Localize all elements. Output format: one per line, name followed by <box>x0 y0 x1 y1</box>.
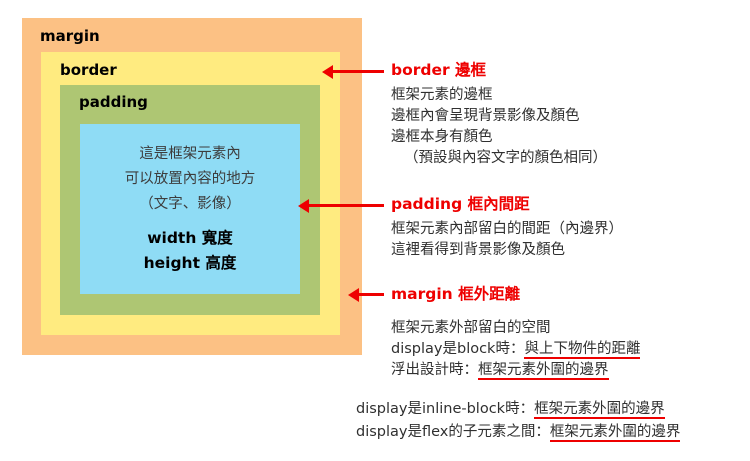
section-border-line-2: 邊框內會呈現背景影像及顏色 <box>391 106 607 127</box>
section-border-line-3: 邊框本身有顏色 <box>391 127 607 148</box>
content-line-1: 這是框架元素內 <box>80 142 300 167</box>
footer-line-1: display是inline-block時：框架元素外圍的邊界 <box>356 398 680 421</box>
margin-box-label: margin <box>40 29 100 44</box>
section-border-line-4: （預設與內容文字的顏色相同） <box>391 148 607 169</box>
section-margin-line-3-prefix: 浮出設計時： <box>391 362 478 378</box>
border-box: border padding 這是框架元素內 可以放置內容的地方 （文字、影像）… <box>41 52 340 335</box>
section-border: border 邊框 框架元素的邊框 邊框內會呈現背景影像及顏色 邊框本身有顏色 … <box>391 61 607 169</box>
padding-callout-arrow-icon <box>308 204 384 207</box>
section-padding-body: 框架元素內部留白的間距（內邊界） 這裡看得到背景影像及顏色 <box>391 219 623 261</box>
content-box: 這是框架元素內 可以放置內容的地方 （文字、影像） width 寬度 heigh… <box>80 124 300 294</box>
section-border-line-1: 框架元素的邊框 <box>391 85 607 106</box>
section-padding-title: padding 框內間距 <box>391 195 623 214</box>
section-margin-line-1: 框架元素外部留白的空間 <box>391 318 640 339</box>
footer-line-2-emphasis: 框架元素外圍的邊界 <box>550 424 681 442</box>
section-margin-title: margin 框外距離 <box>391 285 640 304</box>
section-border-title: border 邊框 <box>391 61 607 80</box>
padding-box-label: padding <box>79 95 148 110</box>
content-height-label: height 高度 <box>80 251 300 276</box>
section-margin: margin 框外距離 框架元素外部留白的空間 display是block時：與… <box>391 285 640 381</box>
footer-notes: display是inline-block時：框架元素外圍的邊界 display是… <box>356 398 680 444</box>
footer-line-2: display是flex的子元素之間：框架元素外圍的邊界 <box>356 421 680 444</box>
margin-box: margin border padding 這是框架元素內 可以放置內容的地方 … <box>22 18 362 355</box>
section-margin-line-2: display是block時：與上下物件的距離 <box>391 339 640 360</box>
padding-box: padding 這是框架元素內 可以放置內容的地方 （文字、影像） width … <box>60 85 320 315</box>
section-margin-body: 框架元素外部留白的空間 display是block時：與上下物件的距離 浮出設計… <box>391 318 640 381</box>
section-padding-line-2: 這裡看得到背景影像及顏色 <box>391 240 623 261</box>
section-margin-line-3: 浮出設計時：框架元素外圍的邊界 <box>391 360 640 381</box>
content-line-2: 可以放置內容的地方 <box>80 167 300 192</box>
footer-line-1-prefix: display是inline-block時： <box>356 401 534 417</box>
section-margin-line-2-emphasis: 與上下物件的距離 <box>524 341 640 359</box>
border-callout-arrow-icon <box>332 70 384 73</box>
section-padding-line-1: 框架元素內部留白的間距（內邊界） <box>391 219 623 240</box>
section-padding: padding 框內間距 框架元素內部留白的間距（內邊界） 這裡看得到背景影像及… <box>391 195 623 261</box>
content-box-text: 這是框架元素內 可以放置內容的地方 （文字、影像） width 寬度 heigh… <box>80 142 300 276</box>
section-margin-line-2-prefix: display是block時： <box>391 341 524 357</box>
margin-callout-arrow-icon <box>358 293 384 296</box>
section-margin-line-3-emphasis: 框架元素外圍的邊界 <box>478 362 609 380</box>
content-line-3: （文字、影像） <box>80 192 300 217</box>
box-model-diagram-canvas: margin border padding 這是框架元素內 可以放置內容的地方 … <box>0 0 750 461</box>
section-border-body: 框架元素的邊框 邊框內會呈現背景影像及顏色 邊框本身有顏色 （預設與內容文字的顏… <box>391 85 607 169</box>
footer-line-2-prefix: display是flex的子元素之間： <box>356 424 550 440</box>
border-box-label: border <box>60 63 117 78</box>
content-width-label: width 寬度 <box>80 226 300 251</box>
footer-line-1-emphasis: 框架元素外圍的邊界 <box>534 401 665 419</box>
